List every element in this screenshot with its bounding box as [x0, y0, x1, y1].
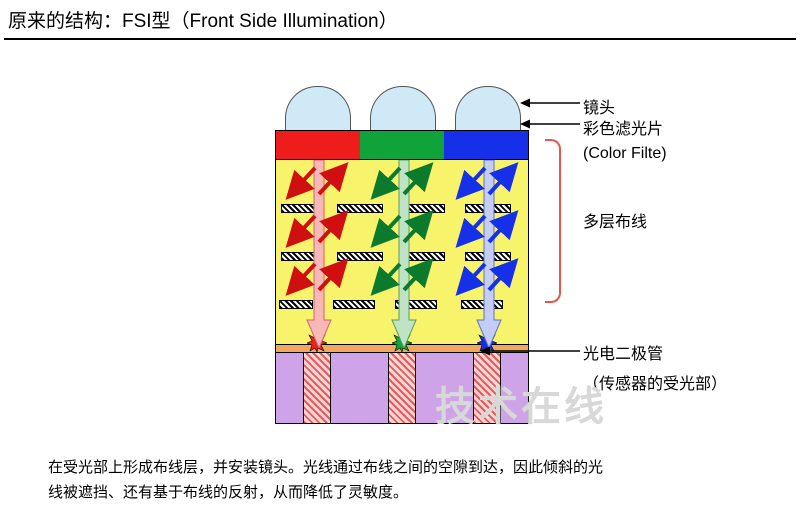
page-title: 原来的结构：FSI型（Front Side Illumination） [8, 6, 398, 33]
wiring-brace [545, 139, 561, 303]
watermark: 技术在线 [435, 374, 607, 432]
title-divider [4, 38, 796, 40]
color-filter-leader-line [520, 117, 580, 131]
diagram-stage: 镜头 彩色滤光片 (Color Filte) 多层布线 光电二极管 （传感器的受… [0, 44, 800, 444]
caption-line-1: 在受光部上形成布线层，并安装镜头。光线通过布线之间的空隙到达，因此倾斜的光 [48, 455, 768, 480]
label-wiring: 多层布线 [583, 208, 647, 232]
label-color-filter-en: (Color Filte) [583, 145, 667, 163]
label-color-filter-cn: 彩色滤光片 [583, 115, 663, 139]
caption-line-2: 线被遮挡、还有基于布线的反射，从而降低了灵敏度。 [48, 480, 768, 505]
lens-leader-line [520, 96, 580, 110]
caption: 在受光部上形成布线层，并安装镜头。光线通过布线之间的空隙到达，因此倾斜的光 线被… [48, 455, 768, 505]
label-photodiode-line1: 光电二极管 [583, 340, 663, 364]
photodiode-leader-line [480, 344, 580, 358]
